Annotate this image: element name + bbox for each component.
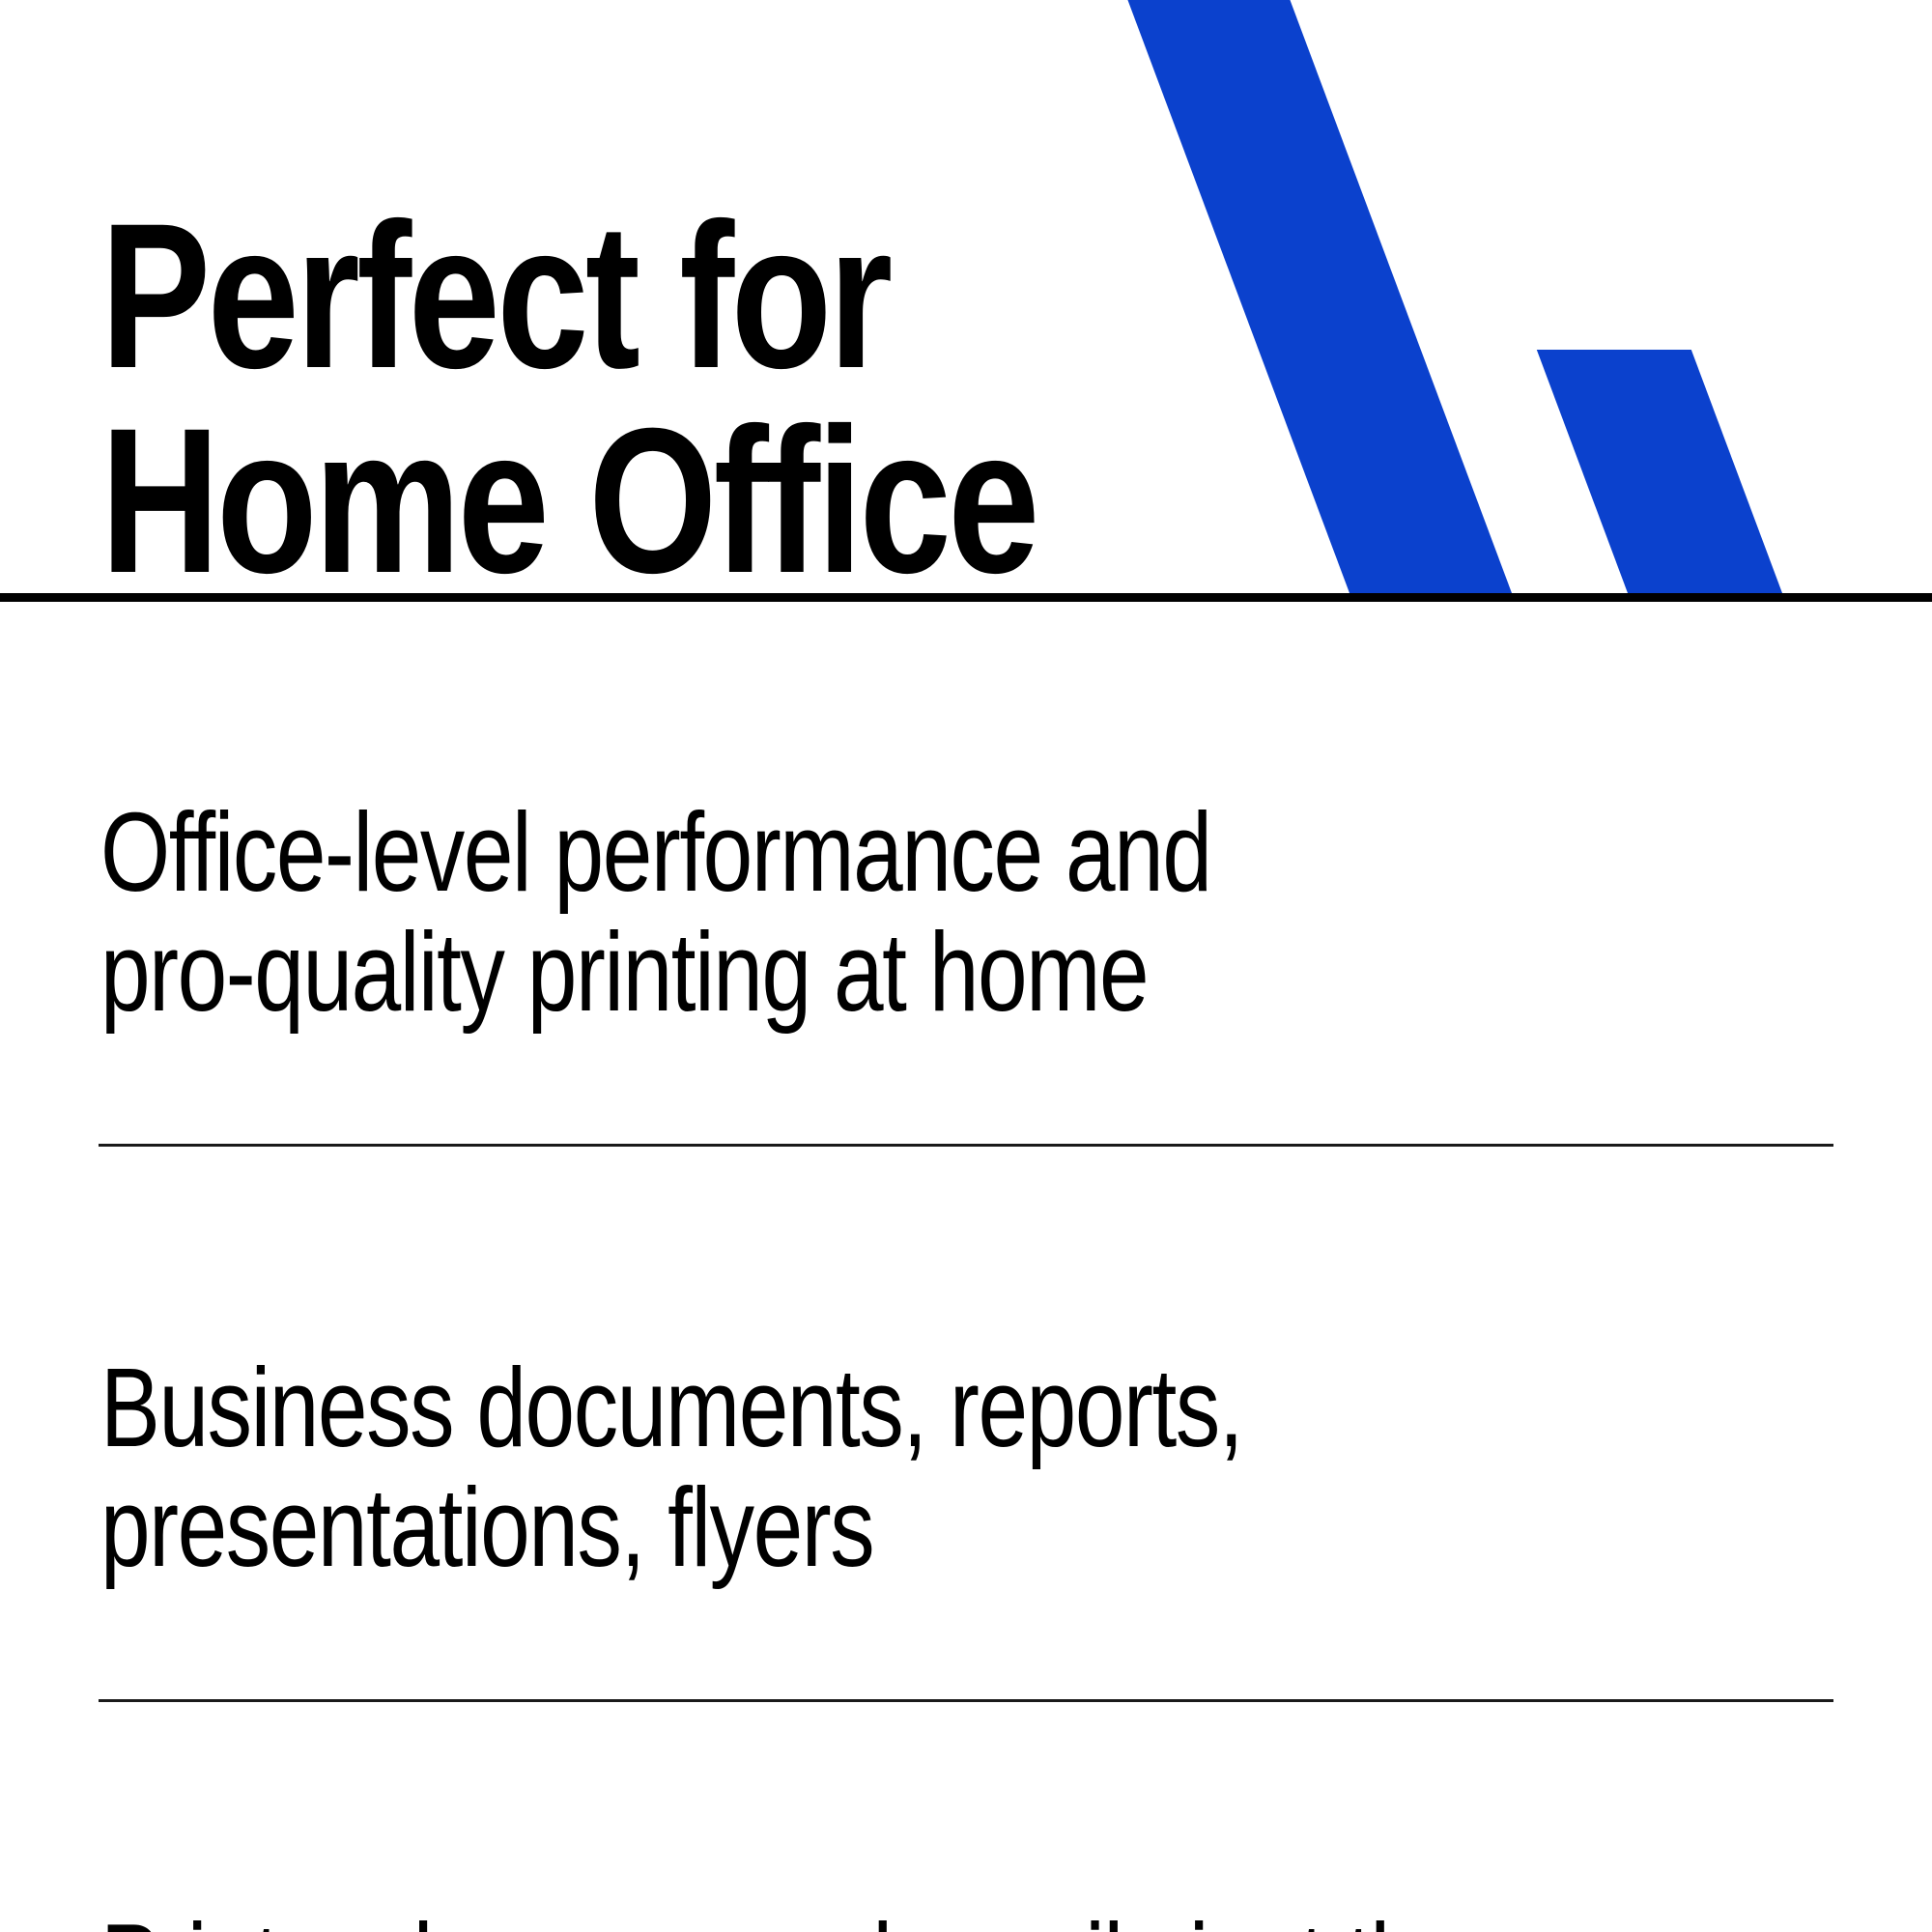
feature-item-hp-ai-print: Print web pages and emails just the way … [0,1814,1932,1932]
marketing-feature-card: Perfect for Home Office Office-level per… [0,0,1932,1932]
feature-item-office-performance: Office-level performance and pro-quality… [0,709,1932,1032]
page-title: Perfect for Home Office [100,194,1121,597]
feature-text-before: Print web pages and emails just the way … [100,1900,1467,1932]
feature-text: Office-level performance and pro-quality… [100,709,1878,1032]
feature-item-business-documents: Business documents, reports, presentatio… [0,1259,1932,1587]
feature-list: Office-level performance and pro-quality… [0,597,1932,1932]
hero-section: Perfect for Home Office [0,0,1932,597]
blue-slash-short [1537,350,1785,597]
blue-slash-long [1126,0,1515,597]
thin-divider-1 [99,1144,1833,1147]
thin-divider-2 [99,1699,1833,1702]
feature-text: Print web pages and emails just the way … [100,1814,1878,1932]
feature-text: Business documents, reports, presentatio… [100,1259,1878,1587]
